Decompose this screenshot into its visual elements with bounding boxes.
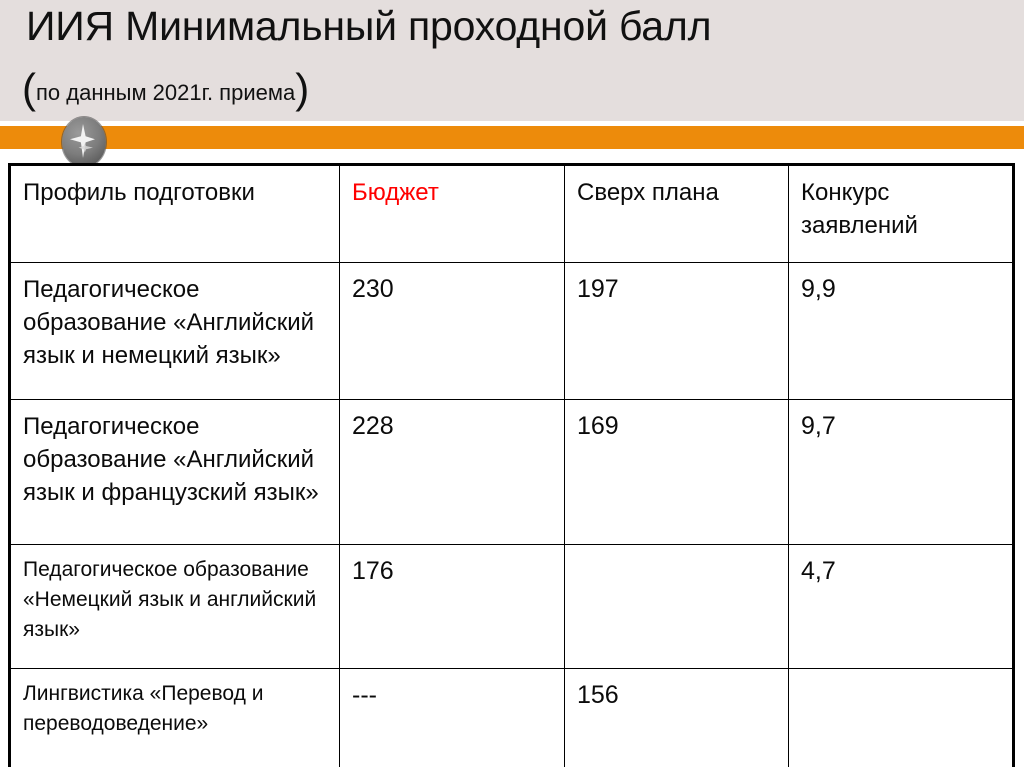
scores-table-container: Профиль подготовки Бюджет Сверх плана Ко… bbox=[8, 163, 1012, 767]
scores-table: Профиль подготовки Бюджет Сверх плана Ко… bbox=[8, 163, 1015, 767]
cell-budget: 230 bbox=[352, 275, 394, 303]
cell-profile: Педагогическое образование «Английский я… bbox=[23, 410, 330, 509]
subtitle-close-paren: ) bbox=[295, 65, 309, 112]
university-emblem-icon bbox=[62, 117, 106, 167]
cell-budget: --- bbox=[352, 681, 377, 709]
subtitle-open-paren: ( bbox=[22, 65, 36, 112]
table-row: Педагогическое образование «Английский я… bbox=[10, 400, 1014, 545]
table-header-row: Профиль подготовки Бюджет Сверх плана Ко… bbox=[10, 165, 1014, 263]
slide-subtitle: (по данным 2021г. приема) bbox=[22, 62, 309, 123]
table-row: Педагогическое образование «Английский я… bbox=[10, 263, 1014, 400]
table-row: Педагогическое образование «Немецкий язы… bbox=[10, 545, 1014, 669]
header-cell-profile: Профиль подготовки bbox=[10, 165, 340, 263]
title-banner: ИИЯ Минимальный проходной балл (по данны… bbox=[0, 0, 1024, 121]
cell-budget: 176 bbox=[352, 557, 394, 585]
cell-budget: 228 bbox=[352, 412, 394, 440]
header-cell-budget: Бюджет bbox=[340, 165, 565, 263]
header-cell-over-plan: Сверх плана bbox=[565, 165, 789, 263]
presentation-slide: ИИЯ Минимальный проходной балл (по данны… bbox=[0, 0, 1024, 767]
slide-title: ИИЯ Минимальный проходной балл bbox=[26, 0, 711, 54]
subtitle-text: по данным 2021г. приема bbox=[36, 80, 295, 105]
cell-profile: Лингвистика «Перевод и переводоведение» bbox=[23, 679, 330, 739]
cell-over-plan: 156 bbox=[577, 681, 619, 709]
cell-competition: 4,7 bbox=[801, 557, 836, 585]
table-row: Лингвистика «Перевод и переводоведение» … bbox=[10, 669, 1014, 767]
cell-profile: Педагогическое образование «Английский я… bbox=[23, 273, 330, 372]
cell-over-plan: 197 bbox=[577, 275, 619, 303]
cell-competition: 9,7 bbox=[801, 412, 836, 440]
cell-competition: 9,9 bbox=[801, 275, 836, 303]
cell-over-plan: 169 bbox=[577, 412, 619, 440]
accent-bar bbox=[0, 126, 1024, 149]
header-cell-competition: Конкурс заявлений bbox=[789, 165, 1014, 263]
cell-profile: Педагогическое образование «Немецкий язы… bbox=[23, 555, 330, 645]
